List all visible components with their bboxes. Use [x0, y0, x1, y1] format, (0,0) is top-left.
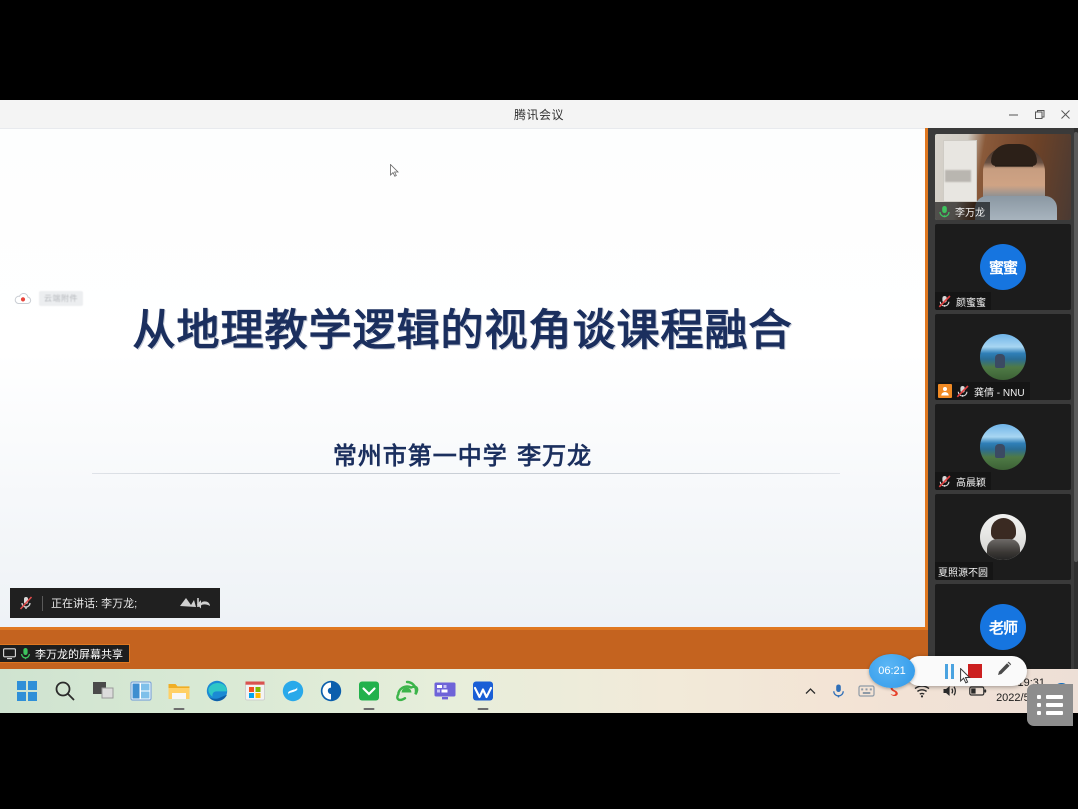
participant-name-strip: 李万龙	[935, 202, 990, 220]
annotation-toolbar[interactable]: 06:21	[905, 656, 1027, 686]
panel-scrollbar[interactable]	[1074, 128, 1078, 713]
participant-avatar	[980, 514, 1026, 560]
participant-avatar	[980, 424, 1026, 470]
search-icon[interactable]	[46, 669, 84, 713]
window-titlebar[interactable]: 腾讯会议	[0, 100, 1078, 128]
pause-icon[interactable]	[945, 664, 954, 679]
wechat-icon[interactable]	[350, 669, 388, 713]
speaking-now-label: 正在讲话: 李万龙;	[51, 595, 137, 611]
speaking-bar-controls[interactable]	[178, 595, 212, 611]
mouse-cursor-icon	[960, 668, 971, 689]
sogou-browser-icon[interactable]	[274, 669, 312, 713]
file-explorer-icon[interactable]	[160, 669, 198, 713]
participant-tile[interactable]: 李万龙	[935, 134, 1071, 220]
participants-panel[interactable]: 李万龙 蜜蜜 颜蜜蜜	[928, 128, 1078, 713]
list-icon-row	[1037, 703, 1063, 707]
slide-subtitle: 常州市第一中学 李万龙	[0, 436, 925, 471]
monitor-icon	[3, 648, 16, 660]
task-view-icon[interactable]	[84, 669, 122, 713]
screen-root: 腾讯会议	[0, 0, 1078, 809]
cloud-attachment-label: 云端附件	[39, 291, 83, 306]
participant-tile[interactable]: 高晨颖	[935, 404, 1071, 490]
video-person-glasses	[995, 165, 1033, 174]
edge-icon[interactable]	[198, 669, 236, 713]
tencent-meeting-icon[interactable]	[464, 669, 502, 713]
speaking-indicator-bar: 正在讲话: 李万龙;	[10, 588, 220, 618]
letterbox-top	[0, 0, 1078, 100]
participant-avatar	[980, 334, 1026, 380]
mouse-pointer-icon	[390, 164, 399, 177]
microphone-icon	[20, 647, 31, 660]
video-person-hair	[991, 144, 1037, 166]
speaking-bar-divider	[42, 596, 43, 611]
tencent-meeting-window: 腾讯会议	[0, 100, 1078, 713]
participant-list-button[interactable]	[1027, 684, 1073, 726]
internet-explorer-icon[interactable]	[388, 669, 426, 713]
list-icon	[1037, 695, 1063, 699]
microphone-icon[interactable]	[824, 669, 852, 713]
participant-name: 颜蜜蜜	[956, 294, 986, 309]
microphone-muted-icon	[938, 295, 952, 308]
microphone-muted-icon	[956, 385, 970, 398]
participant-tile[interactable]: 蜜蜜 颜蜜蜜	[935, 224, 1071, 310]
cloud-icon	[14, 292, 32, 306]
participant-name-strip: 龚倩 - NNU	[935, 382, 1030, 400]
participant-name: 龚倩 - NNU	[974, 384, 1025, 399]
participant-name-strip: 夏照源不圆	[935, 562, 993, 580]
share-timer: 06:21	[869, 654, 915, 688]
participant-tile[interactable]: 龚倩 - NNU	[935, 314, 1071, 400]
taskbar-apps	[0, 669, 502, 713]
microphone-muted-icon	[938, 475, 952, 488]
participant-name: 李万龙	[955, 204, 985, 219]
windows-start-icon[interactable]	[8, 669, 46, 713]
participant-avatar: 蜜蜜	[980, 244, 1026, 290]
participant-tile[interactable]: 夏照源不圆	[935, 494, 1071, 580]
letterbox-bottom	[0, 713, 1078, 809]
host-badge-icon	[938, 384, 952, 398]
participant-avatar: 老师	[980, 604, 1026, 650]
widgets-icon[interactable]	[122, 669, 160, 713]
slide-title: 从地理教学逻辑的视角谈课程融合	[0, 296, 925, 358]
remote-desktop-icon[interactable]	[426, 669, 464, 713]
minimize-button[interactable]	[1000, 100, 1026, 128]
microphone-on-icon	[938, 205, 951, 218]
close-button[interactable]	[1052, 100, 1078, 128]
scrollbar-thumb[interactable]	[1074, 132, 1078, 562]
chevron-up-icon[interactable]	[796, 669, 824, 713]
video-background-frame	[945, 170, 971, 182]
cloud-attachment-tag[interactable]: 云端附件	[14, 291, 83, 306]
participant-name-strip: 颜蜜蜜	[935, 292, 991, 310]
window-title: 腾讯会议	[514, 106, 564, 123]
screen-share-chip[interactable]: 李万龙的屏幕共享	[0, 644, 130, 663]
screen-share-label: 李万龙的屏幕共享	[35, 646, 123, 662]
shared-screen-border: 云端附件 从地理教学逻辑的视角谈课程融合 常州市第一中学 李万龙	[0, 128, 928, 630]
lenovo-icon[interactable]	[312, 669, 350, 713]
restore-button[interactable]	[1026, 100, 1052, 128]
slide-divider-line	[92, 473, 840, 474]
participant-name-strip: 高晨颖	[935, 472, 991, 490]
participant-name: 高晨颖	[956, 474, 986, 489]
microsoft-store-icon[interactable]	[236, 669, 274, 713]
participant-name: 夏照源不圆	[938, 564, 988, 579]
pen-annotation-icon[interactable]	[996, 660, 1013, 682]
microphone-muted-icon	[18, 595, 34, 611]
window-controls	[1000, 100, 1078, 128]
slide-top-divider	[0, 128, 925, 129]
presentation-slide: 云端附件 从地理教学逻辑的视角谈课程融合 常州市第一中学 李万龙	[0, 128, 925, 627]
list-icon-row	[1037, 711, 1063, 715]
shared-screen-region[interactable]: 云端附件 从地理教学逻辑的视角谈课程融合 常州市第一中学 李万龙	[0, 128, 928, 713]
